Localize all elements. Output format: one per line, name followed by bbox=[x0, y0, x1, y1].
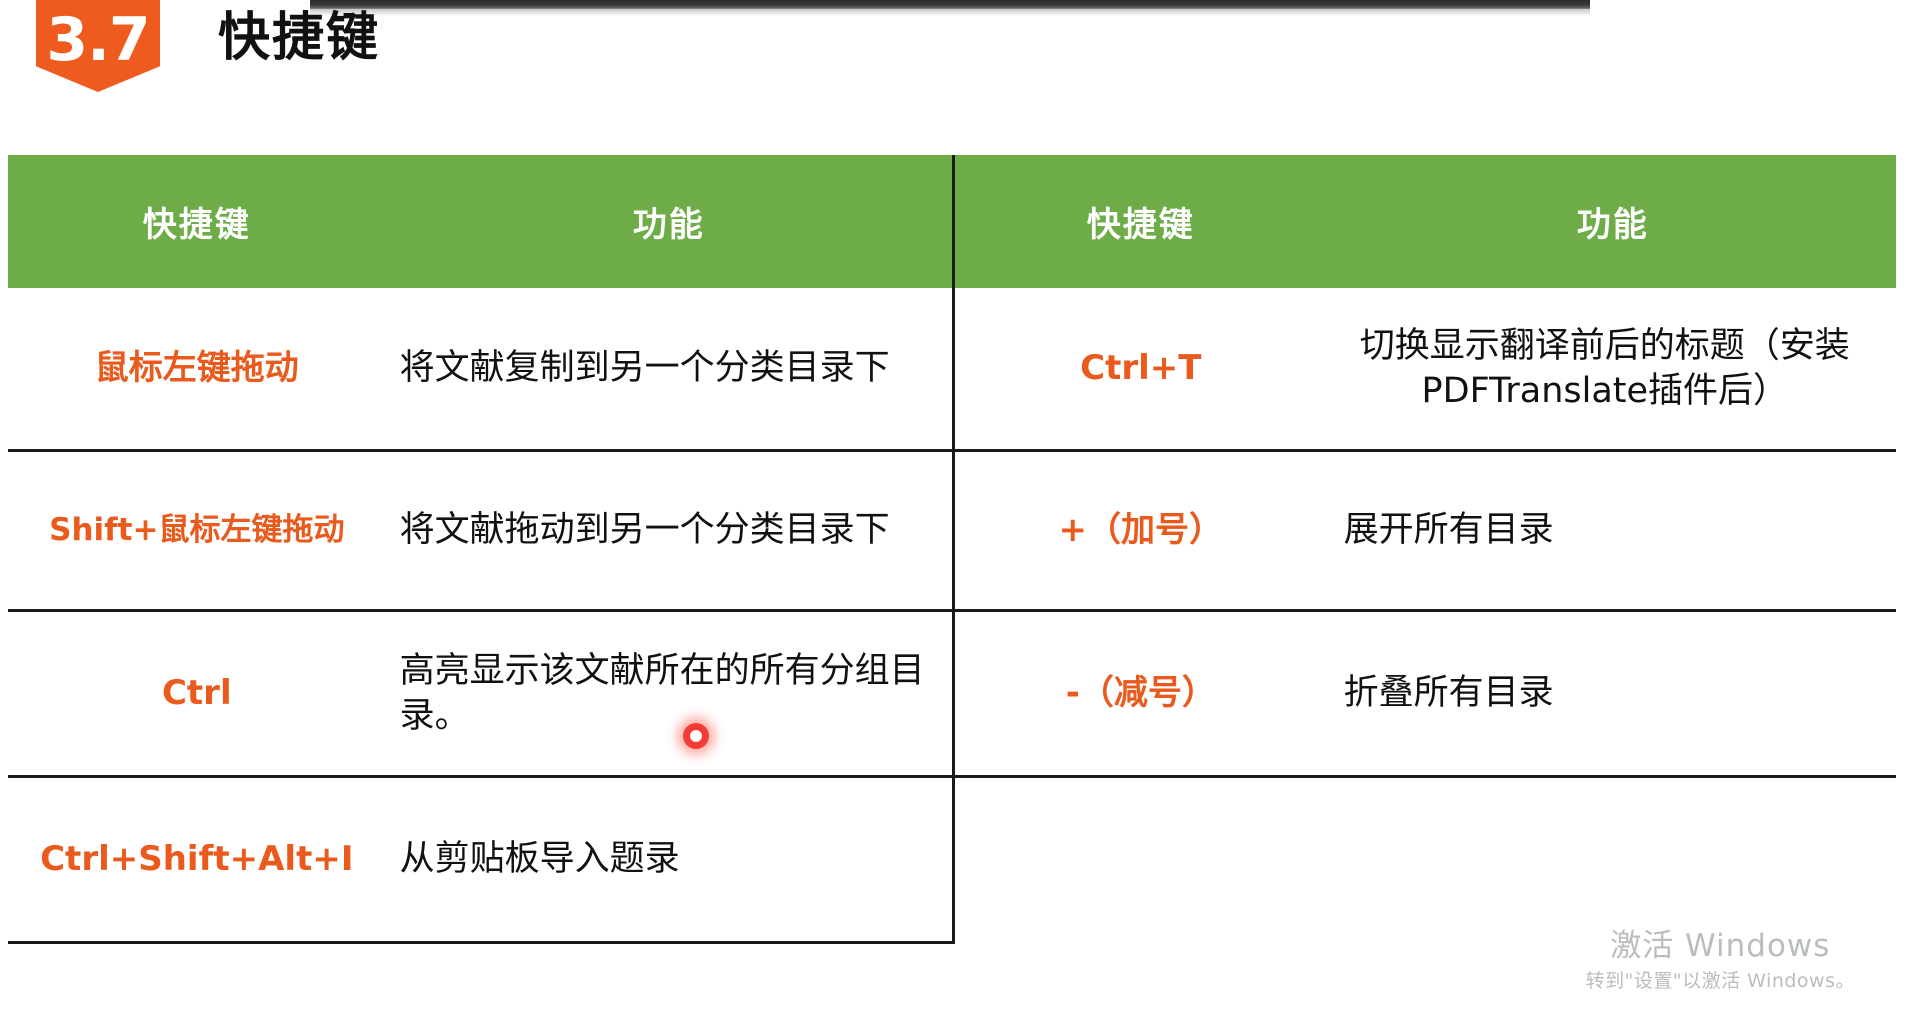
table-body: 鼠标左键拖动 将文献复制到另一个分类目录下 Shift+鼠标左键拖动 将文献拖动… bbox=[8, 288, 1896, 944]
shortcut-key-cell: Shift+鼠标左键拖动 bbox=[8, 513, 386, 549]
column-header-shortcut-right: 快捷键 bbox=[952, 197, 1330, 246]
watermark-subtitle: 转到"设置"以激活 Windows。 bbox=[1586, 969, 1855, 995]
table-row: 鼠标左键拖动 将文献复制到另一个分类目录下 bbox=[8, 288, 952, 452]
section-header: 3.7 快捷键 bbox=[0, 0, 1907, 120]
column-header-function-left: 功能 bbox=[386, 197, 952, 246]
table-row: -（减号） 折叠所有目录 bbox=[952, 612, 1896, 778]
shortcut-key-cell: Ctrl bbox=[8, 674, 386, 713]
table-column-left: 鼠标左键拖动 将文献复制到另一个分类目录下 Shift+鼠标左键拖动 将文献拖动… bbox=[8, 288, 952, 944]
shortcut-key-cell: 鼠标左键拖动 bbox=[8, 349, 386, 388]
table-row: Ctrl+T 切换显示翻译前后的标题（安装PDFTranslate插件后） bbox=[952, 288, 1896, 452]
shortcut-key-cell: -（减号） bbox=[952, 674, 1330, 713]
watermark-title: 激活 Windows bbox=[1586, 926, 1855, 968]
page-title: 快捷键 bbox=[218, 10, 380, 67]
table-header-row: 快捷键 功能 快捷键 功能 bbox=[8, 155, 1896, 288]
shortcut-function-cell: 将文献拖动到另一个分类目录下 bbox=[386, 508, 952, 553]
table-row-empty bbox=[952, 778, 1896, 944]
shortcut-function-cell: 切换显示翻译前后的标题（安装PDFTranslate插件后） bbox=[1330, 324, 1896, 414]
table-row: Ctrl 高亮显示该文献所在的所有分组目录。 bbox=[8, 612, 952, 778]
table-header-left: 快捷键 功能 bbox=[8, 155, 952, 288]
shortcut-key-cell: +（加号） bbox=[952, 511, 1330, 550]
shortcut-function-cell: 高亮显示该文献所在的所有分组目录。 bbox=[386, 649, 952, 739]
table-row: Shift+鼠标左键拖动 将文献拖动到另一个分类目录下 bbox=[8, 452, 952, 612]
table-column-right: Ctrl+T 切换显示翻译前后的标题（安装PDFTranslate插件后） +（… bbox=[952, 288, 1896, 944]
shortcut-function-cell: 展开所有目录 bbox=[1330, 508, 1896, 553]
windows-activation-watermark: 激活 Windows 转到"设置"以激活 Windows。 bbox=[1586, 926, 1855, 995]
shortcut-tables: 快捷键 功能 快捷键 功能 鼠标左键拖动 将文献复制到另一个分类目录下 Shif… bbox=[8, 155, 1896, 944]
section-number-label: 3.7 bbox=[46, 0, 149, 70]
table-row: Ctrl+Shift+Alt+I 从剪贴板导入题录 bbox=[8, 778, 952, 944]
shortcut-function-cell: 将文献复制到另一个分类目录下 bbox=[386, 346, 952, 391]
table-header-right: 快捷键 功能 bbox=[952, 155, 1896, 288]
section-number-badge: 3.7 bbox=[36, 0, 160, 92]
table-row: +（加号） 展开所有目录 bbox=[952, 452, 1896, 612]
column-header-function-right: 功能 bbox=[1330, 197, 1896, 246]
shortcut-function-cell: 折叠所有目录 bbox=[1330, 671, 1896, 716]
shortcut-key-cell: Ctrl+Shift+Alt+I bbox=[8, 840, 386, 879]
shortcut-key-cell: Ctrl+T bbox=[952, 349, 1330, 388]
column-header-shortcut-left: 快捷键 bbox=[8, 197, 386, 246]
shortcut-function-cell: 从剪贴板导入题录 bbox=[386, 837, 952, 882]
